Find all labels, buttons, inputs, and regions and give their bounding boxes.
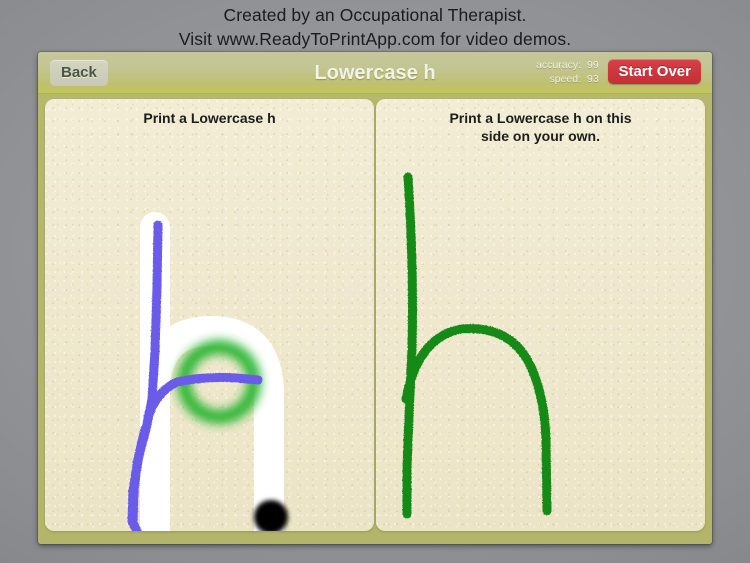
start-over-button[interactable]: Start Over xyxy=(608,59,701,84)
back-button[interactable]: Back xyxy=(50,60,108,86)
promo-line-1: Created by an Occupational Therapist. xyxy=(0,3,750,27)
practice-panel[interactable]: Print a Lowercase h on this side on your… xyxy=(376,99,705,531)
user-drawn-letter-h xyxy=(406,177,547,514)
speed-row: speed:93 xyxy=(483,72,603,86)
speed-value: 93 xyxy=(581,72,603,86)
accuracy-row: accuracy:99 xyxy=(483,58,603,72)
practice-canvas[interactable] xyxy=(376,99,705,531)
app-window: Back Lowercase h accuracy:99 speed:93 St… xyxy=(38,52,712,544)
toolbar: Back Lowercase h accuracy:99 speed:93 St… xyxy=(38,52,712,94)
accuracy-value: 99 xyxy=(581,58,603,72)
promo-header: Created by an Occupational Therapist. Vi… xyxy=(0,0,750,52)
accuracy-label: accuracy: xyxy=(536,59,581,71)
stats-readout: accuracy:99 speed:93 xyxy=(483,58,603,86)
promo-line-2: Visit www.ReadyToPrintApp.com for video … xyxy=(0,27,750,51)
speed-label: speed: xyxy=(549,73,581,85)
tracing-panel[interactable]: Print a Lowercase h xyxy=(45,99,374,531)
tracing-canvas[interactable] xyxy=(45,99,374,531)
